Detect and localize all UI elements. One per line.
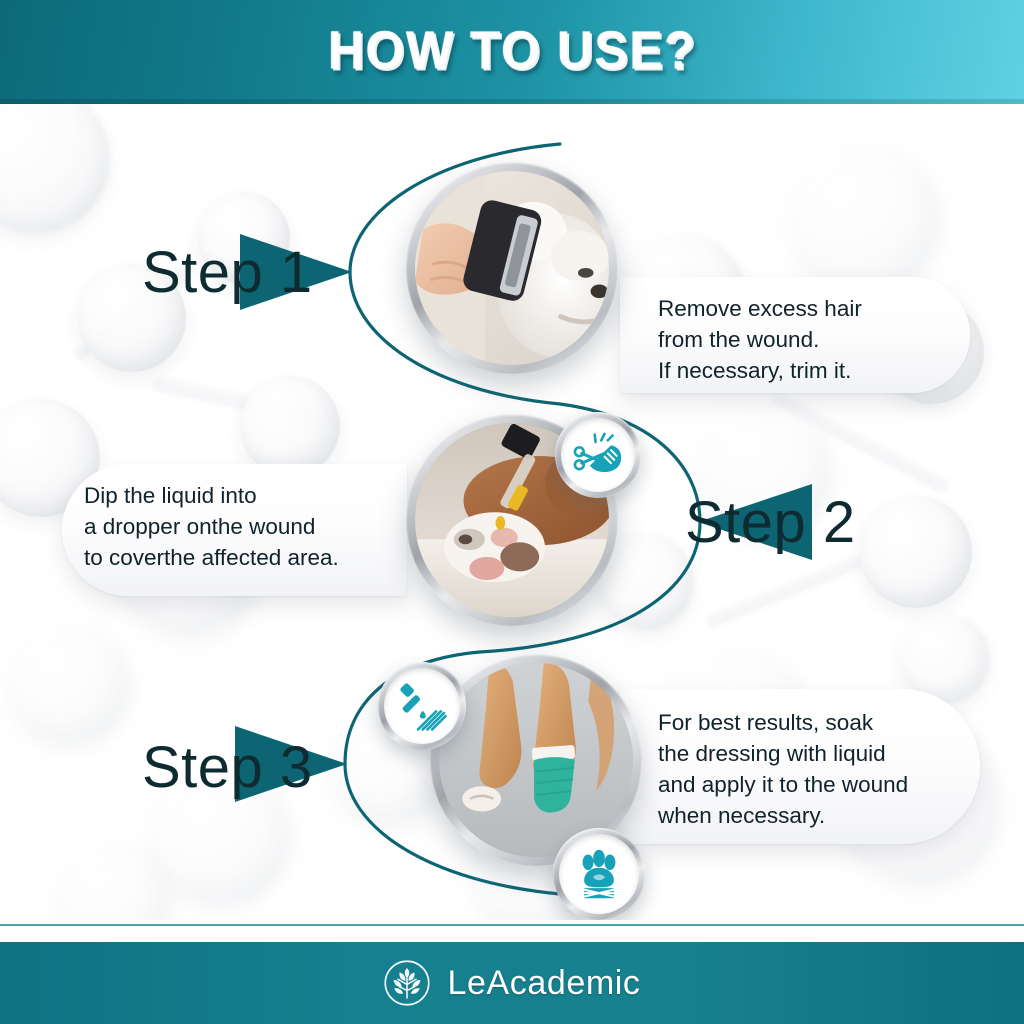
infographic-poster: HOW TO USE? (0, 0, 1024, 1024)
page-title: HOW TO USE? (0, 19, 1024, 82)
step-3-description: For best results, soak the dressing with… (658, 707, 956, 831)
leaf-tree-circle-logo (383, 959, 431, 1007)
step-2-text-card: Dip the liquid into a dropper onthe woun… (62, 464, 407, 596)
bubble (10, 624, 130, 744)
step-1-label: Step 1 (142, 239, 313, 306)
scissors-grooming-icon (572, 429, 624, 481)
dropper-icon (397, 681, 447, 731)
steps-stage: Step 1 Remove excess hair from the wound… (0, 104, 1024, 920)
header-banner: HOW TO USE? (0, 0, 1024, 104)
bubble (240, 376, 340, 476)
bandaged-paw-icon (574, 849, 624, 899)
bubble (860, 496, 972, 608)
step-2-icon-badge (378, 662, 466, 750)
step-2-label: Step 2 (685, 489, 856, 556)
step-1-icon-badge (555, 412, 641, 498)
step-1-photo-image (415, 171, 609, 365)
step-1-photo (406, 162, 618, 374)
step-2-description: Dip the liquid into a dropper onthe woun… (84, 480, 373, 573)
bubble (790, 144, 940, 294)
footer-separator (0, 920, 1024, 942)
step-3-label: Step 3 (142, 734, 313, 801)
brand-name: LeAcademic (447, 964, 640, 1003)
separator-line (0, 924, 1024, 926)
step-1-text-card: Remove excess hair from the wound. If ne… (620, 277, 970, 393)
step-3-icon-badge (553, 828, 645, 920)
step-1-description: Remove excess hair from the wound. If ne… (658, 293, 946, 386)
step-3-text-card: For best results, soak the dressing with… (620, 689, 980, 844)
footer-bar: LeAcademic (0, 942, 1024, 1024)
bubble-link (704, 553, 867, 630)
bubble (0, 104, 110, 234)
